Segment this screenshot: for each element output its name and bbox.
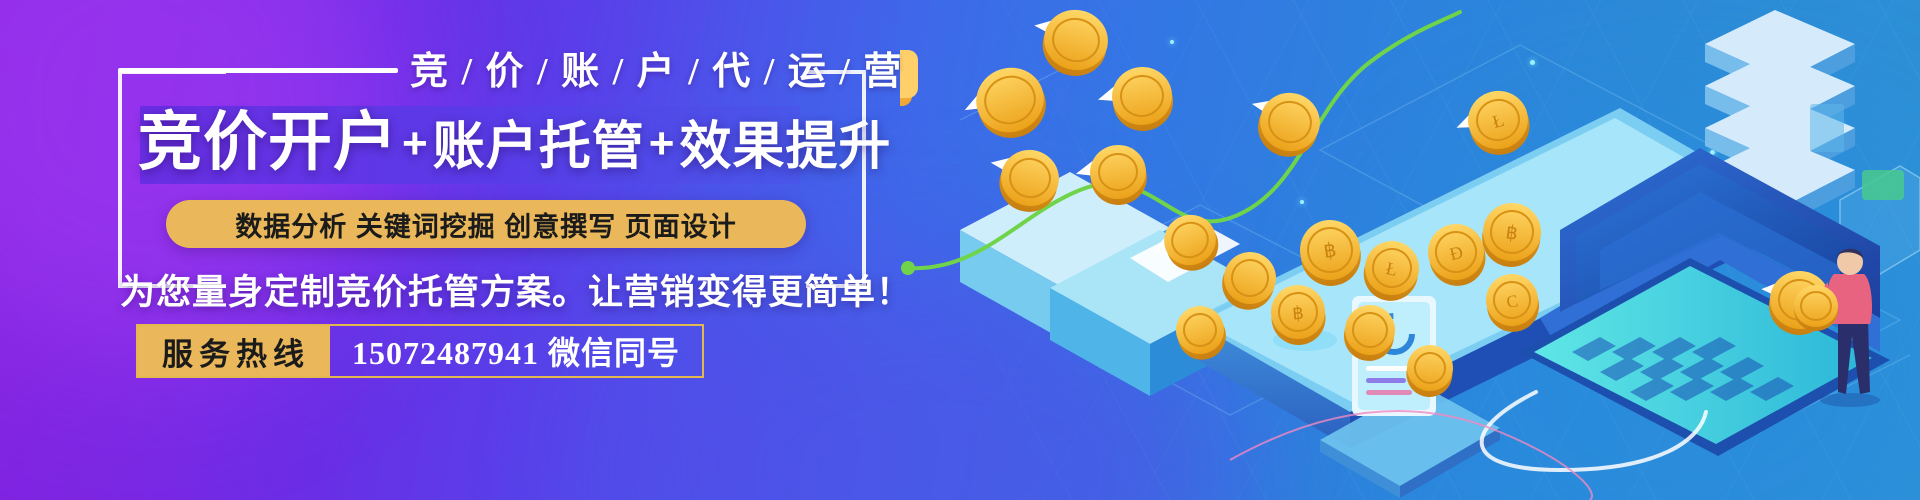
decorative-rule: [118, 68, 398, 73]
hotline-label: 服务热线: [138, 326, 330, 376]
svg-text:฿: ฿: [1292, 303, 1305, 324]
coin-in-hand: [1794, 285, 1838, 331]
services-pill: 数据分析 关键词挖掘 创意撰写 页面设计: [166, 200, 806, 248]
headline: 竞价开户+账户托管+效果提升: [138, 100, 891, 189]
headline-plus-1: +: [398, 119, 433, 168]
winged-coin: [1094, 62, 1178, 138]
blue-chip: [1810, 104, 1844, 152]
subtitle: 为您量身定制竞价托管方案。让营销变得更简单！: [120, 264, 912, 315]
hotline-number[interactable]: 15072487941 微信同号: [330, 326, 702, 376]
isometric-illustration: ฿ Ł Ð ฿: [900, 0, 1920, 500]
headline-part-2: 账户托管: [433, 118, 645, 176]
headline-plus-2: +: [645, 119, 680, 168]
hotline-bar[interactable]: 服务热线 15072487941 微信同号: [136, 324, 704, 378]
winged-coin: [1025, 0, 1115, 82]
promo-banner: ฿ Ł Ð ฿: [0, 0, 1920, 500]
winged-coin: [956, 58, 1055, 151]
headline-part-3: 效果提升: [679, 118, 891, 176]
eyebrow-text: 竞 / 价 / 账 / 户 / 代 / 运 / 营: [410, 40, 903, 95]
winged-coin: [1239, 80, 1329, 165]
winged-coin: Ł: [1450, 84, 1537, 165]
illustration-svg: ฿ Ł Ð ฿: [900, 0, 1920, 500]
banner-copy-block: 竞 / 价 / 账 / 户 / 代 / 运 / 营 竞价开户+账户托管+效果提升…: [0, 0, 960, 500]
headline-part-1: 竞价开户: [138, 106, 398, 178]
services-pill-label: 数据分析 关键词挖掘 创意撰写 页面设计: [235, 205, 737, 244]
green-chip: [1862, 170, 1904, 200]
